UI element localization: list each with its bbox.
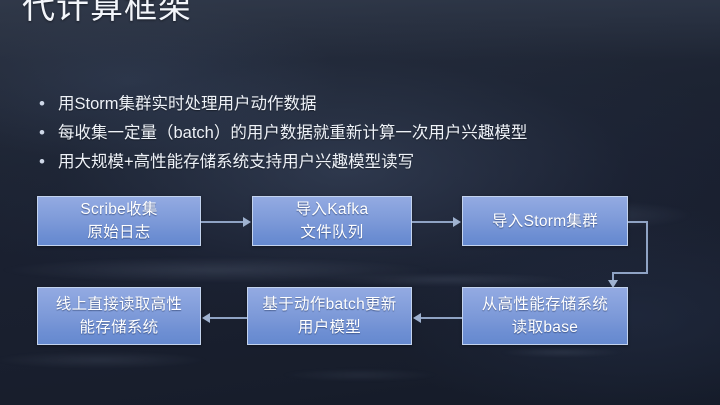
flow-node-scribe-label: Scribe收集原始日志 bbox=[76, 198, 161, 244]
flow-node-scribe[interactable]: Scribe收集原始日志 bbox=[37, 196, 201, 246]
flow-node-online-read[interactable]: 线上直接读取高性能存储系统 bbox=[37, 287, 201, 345]
flow-node-storm[interactable]: 导入Storm集群 bbox=[462, 196, 628, 246]
edge-readbase-to-batch-arrowhead bbox=[413, 313, 421, 323]
flow-diagram: Scribe收集原始日志 导入Kafka文件队列 导入Storm集群 线上直接读… bbox=[0, 0, 720, 405]
flow-node-online-read-label: 线上直接读取高性能存储系统 bbox=[52, 293, 186, 339]
flow-node-kafka-label: 导入Kafka文件队列 bbox=[292, 198, 373, 244]
edge-scribe-to-kafka-arrowhead bbox=[243, 217, 251, 227]
flow-node-read-base-label: 从高性能存储系统读取base bbox=[478, 293, 612, 339]
edge-storm-to-readbase-seg1 bbox=[628, 221, 648, 223]
flow-node-batch-update-label: 基于动作batch更新用户模型 bbox=[258, 293, 400, 339]
edge-batch-to-onlineread-arrowhead bbox=[202, 313, 210, 323]
edge-batch-to-onlineread-line bbox=[210, 317, 247, 319]
flow-node-kafka[interactable]: 导入Kafka文件队列 bbox=[252, 196, 412, 246]
edge-scribe-to-kafka-line bbox=[201, 221, 244, 223]
edge-kafka-to-storm-arrowhead bbox=[453, 217, 461, 227]
edge-readbase-to-batch-line bbox=[421, 317, 462, 319]
edge-storm-to-readbase-seg3 bbox=[612, 272, 648, 274]
flow-node-storm-label: 导入Storm集群 bbox=[488, 210, 602, 233]
flow-node-batch-update[interactable]: 基于动作batch更新用户模型 bbox=[247, 287, 412, 345]
flow-node-read-base[interactable]: 从高性能存储系统读取base bbox=[462, 287, 628, 345]
edge-storm-to-readbase-seg2 bbox=[646, 221, 648, 273]
edge-storm-to-readbase-arrowhead bbox=[608, 280, 618, 288]
edge-kafka-to-storm-line bbox=[412, 221, 454, 223]
slide-canvas: 代计算框架 • 用Storm集群实时处理用户动作数据 • 每收集一定量（batc… bbox=[0, 0, 720, 405]
